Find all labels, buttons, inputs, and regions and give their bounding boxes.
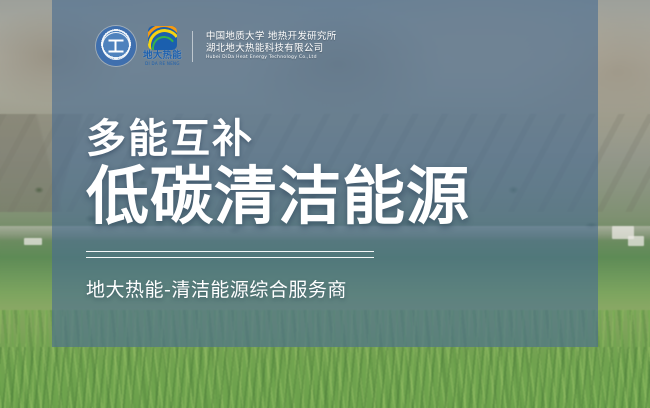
org-institute-name: 中国地质大学 地热开发研究所 bbox=[206, 32, 337, 42]
university-seal-icon bbox=[96, 26, 136, 66]
logo-lockup[interactable]: 地大热能 DI DA RE NENG 中国地质大学 地热开发研究所 湖北地大热能… bbox=[96, 26, 337, 66]
org-company-name: 湖北地大热能科技有限公司 bbox=[206, 44, 337, 54]
headline-secondary: 低碳清洁能源 bbox=[86, 164, 470, 231]
headline-divider-rule bbox=[86, 251, 374, 258]
headline-primary: 多能互补 bbox=[86, 118, 470, 160]
brandmark-pinyin-label: DI DA RE NENG bbox=[145, 62, 180, 66]
company-brandmark: 地大热能 DI DA RE NENG bbox=[143, 26, 182, 66]
brandmark-chinese-label: 地大热能 bbox=[143, 51, 182, 61]
organization-name-block: 中国地质大学 地热开发研究所 湖北地大热能科技有限公司 Hubei DiDa H… bbox=[206, 32, 337, 61]
headline-block: 多能互补 低碳清洁能源 地大热能-清洁能源综合服务商 bbox=[86, 118, 470, 302]
logo-divider bbox=[192, 31, 193, 62]
rainbow-arc-icon bbox=[148, 26, 177, 50]
headline-tagline: 地大热能-清洁能源综合服务商 bbox=[86, 275, 470, 302]
org-company-name-english: Hubei DiDa Heat Energy Technology Co.,Lt… bbox=[206, 56, 337, 61]
promotional-banner: 地大热能 DI DA RE NENG 中国地质大学 地热开发研究所 湖北地大热能… bbox=[0, 0, 650, 408]
